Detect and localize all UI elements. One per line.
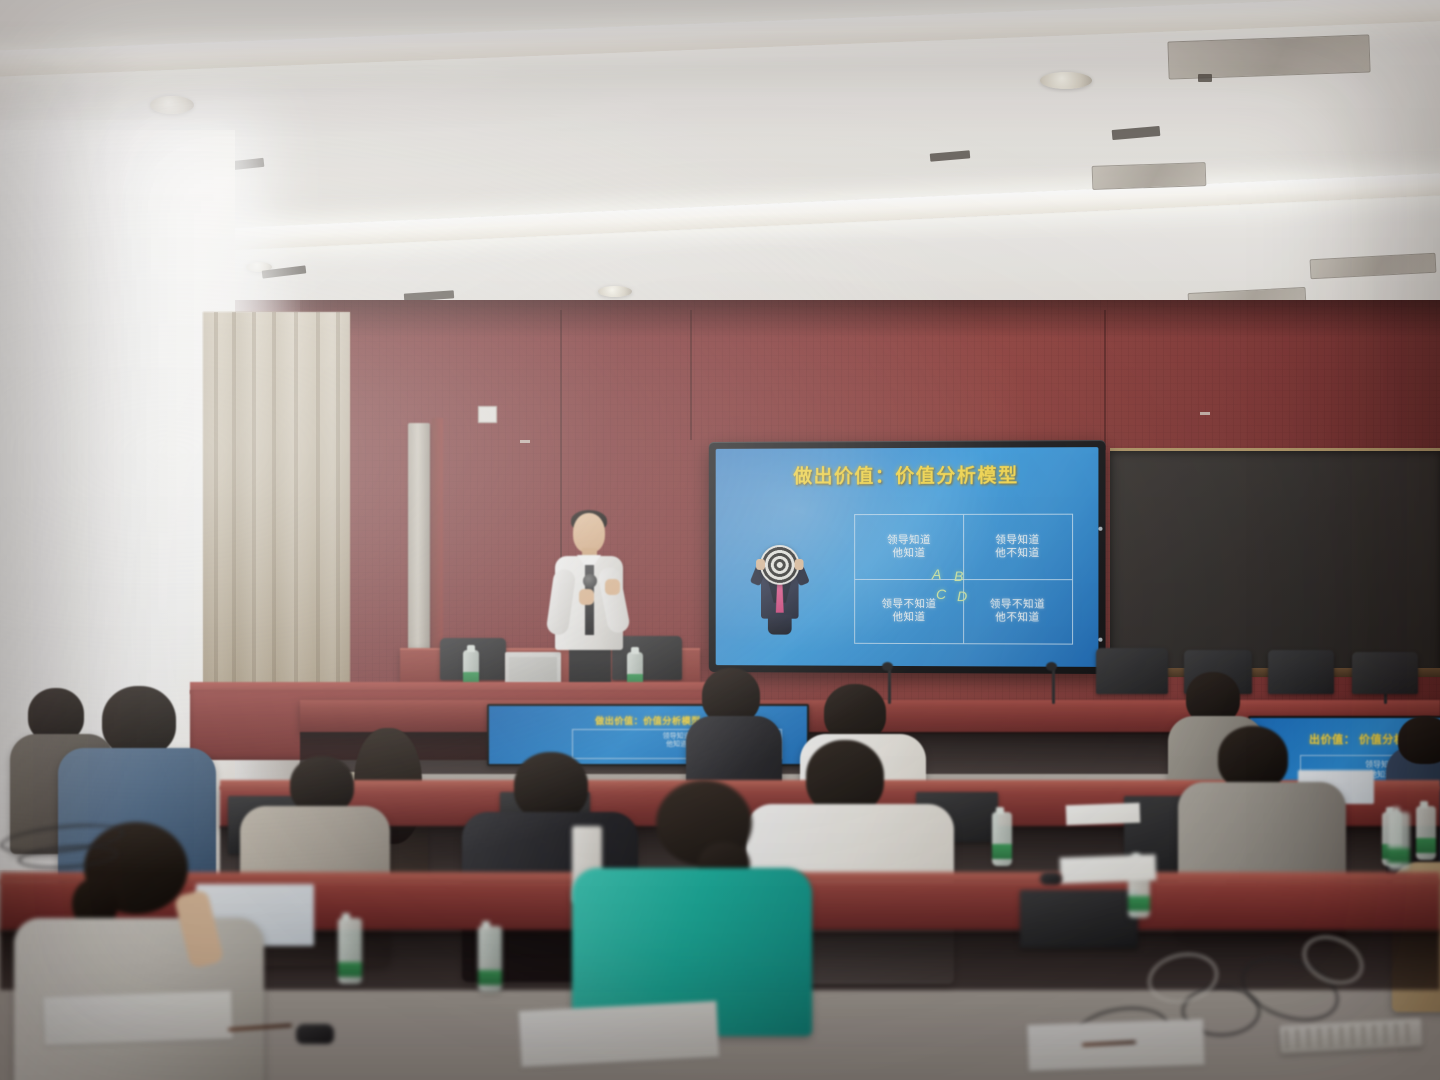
paper-sheet[interactable] [1027,1019,1204,1071]
audience-chair[interactable] [1268,650,1334,694]
paper-sheet[interactable] [1066,803,1141,826]
ceiling-spotlight [1198,74,1212,82]
water-bottle[interactable] [478,926,502,992]
wall-speaker-column [408,423,430,651]
power-strip[interactable] [1279,1018,1422,1053]
water-bottle[interactable] [1416,806,1436,860]
gooseneck-microphone[interactable] [1052,668,1055,704]
paper-sheet[interactable] [43,991,233,1046]
paper-sheet[interactable] [1060,854,1157,883]
slide-canvas: 做出价值：价值分析模型 领导知道 他知道 领导知道 [716,447,1099,667]
computer-mouse[interactable] [296,1024,334,1044]
ceiling-downlight [150,96,194,114]
audience-chair[interactable] [1352,652,1418,694]
ceiling-air-vent [1167,34,1370,79]
presenter [533,513,643,693]
wall-switch[interactable] [478,406,497,423]
display-indicator-dot [1098,638,1102,642]
lecture-hall-photo: 做出价值：价值分析模型 领导知道 他知道 领导知道 [0,0,1440,1080]
audience-chair[interactable] [1096,648,1168,694]
gooseneck-microphone[interactable] [888,668,891,704]
display-indicator-dot [1098,527,1102,531]
main-presentation-display[interactable]: 做出价值：价值分析模型 领导知道 他知道 领导知道 [709,440,1106,674]
water-bottle[interactable] [338,918,362,984]
paper-sheet[interactable] [519,1001,720,1067]
water-bottle[interactable] [1388,812,1410,870]
presenter-head [573,513,605,553]
ceiling-air-vent [1092,162,1207,190]
water-bottle[interactable] [992,812,1012,866]
computer-mouse[interactable] [1040,872,1062,885]
ceiling-downlight [1040,72,1092,89]
blackboard [1110,448,1440,673]
ceiling-downlight [598,286,632,297]
attendee-laptop[interactable] [1020,890,1138,948]
